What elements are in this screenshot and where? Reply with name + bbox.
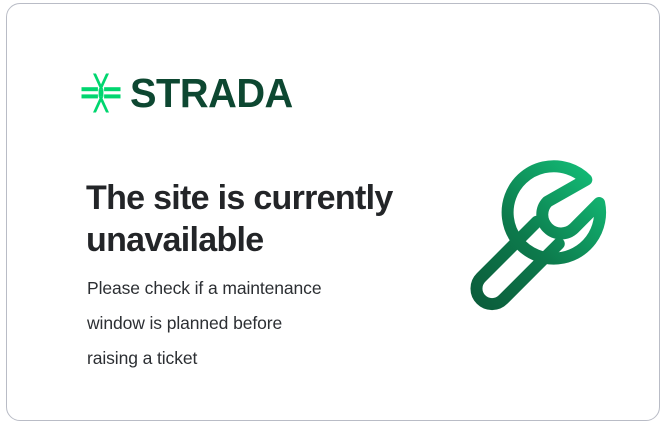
description-line: window is planned before — [87, 306, 417, 341]
brand-logo: STRADA — [81, 70, 298, 116]
brand-wordmark: STRADA — [130, 73, 293, 114]
strada-asterisk-icon — [81, 73, 121, 113]
description-line: raising a ticket — [87, 341, 417, 376]
status-card: STRADA The site is currently unavailable… — [6, 3, 660, 421]
maintenance-illustration — [459, 156, 621, 318]
error-page: STRADA The site is currently unavailable… — [0, 0, 666, 436]
wrench-icon — [459, 156, 621, 318]
page-title: The site is currently unavailable — [86, 177, 446, 261]
page-description: Please check if a maintenance window is … — [87, 271, 417, 376]
description-line: Please check if a maintenance — [87, 271, 417, 306]
